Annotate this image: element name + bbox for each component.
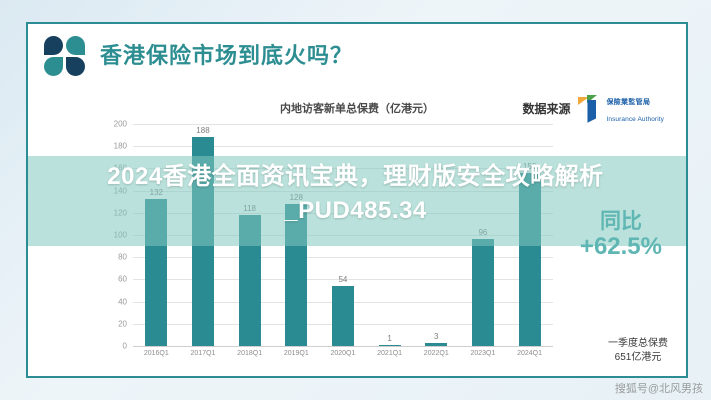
four-petal-logo-icon — [44, 36, 88, 76]
chart-x-tick-label: 2017Q1 — [180, 350, 227, 366]
quarter-total-label: 一季度总保费 — [608, 337, 668, 351]
chart-bar-value-label: 54 — [338, 275, 347, 284]
chart-y-tick-label: 20 — [118, 319, 127, 328]
chart-bar — [472, 239, 494, 346]
chart-y-tick-label: 200 — [114, 120, 127, 129]
page-title: 香港保险市场到底火吗？ — [100, 38, 353, 70]
chart-title: 内地访客新单总保费（亿港元） — [28, 100, 686, 116]
chart-x-tick-label: 2023Q1 — [460, 350, 507, 366]
chart-y-tick-label: 0 — [123, 342, 127, 351]
card-header: 香港保险市场到底火吗？ — [28, 24, 686, 86]
chart-bar-value-label: 188 — [196, 126, 209, 135]
overlay-headline-line2: _PUD485.34 — [0, 194, 711, 228]
chart-x-tick-label: 2018Q1 — [226, 350, 273, 366]
chart-x-tick-label: 2020Q1 — [320, 350, 367, 366]
chart-x-tick-label: 2021Q1 — [366, 350, 413, 366]
yoy-value: +62.5% — [580, 234, 662, 261]
insurance-authority-name-en: Insurance Authority — [606, 116, 664, 123]
logo-petal-bottom-right — [66, 57, 85, 76]
chart-bar-value-label: 3 — [434, 332, 438, 341]
watermark: 搜狐号@北风男孩 — [615, 380, 703, 396]
chart-y-tick-label: 180 — [114, 142, 127, 151]
chart-x-tick-label: 2022Q1 — [413, 350, 460, 366]
chart-x-axis-line — [133, 346, 553, 347]
chart-y-tick-label: 60 — [118, 275, 127, 284]
overlay-headline: 2024香港全面资讯宝典，理财版安全攻略解析 _PUD485.34 — [0, 160, 711, 228]
chart-y-tick-label: 80 — [118, 253, 127, 262]
logo-petal-top-right — [66, 36, 85, 55]
chart-x-axis-labels: 2016Q12017Q12018Q12019Q12020Q12021Q12022… — [133, 350, 553, 366]
quarter-total-value: 651亿港元 — [608, 351, 668, 365]
chart-x-tick-label: 2024Q1 — [506, 350, 553, 366]
logo-petal-top-left — [44, 36, 63, 55]
overlay-headline-line1: 2024香港全面资讯宝典，理财版安全攻略解析 — [0, 160, 711, 194]
chart-x-tick-label: 2016Q1 — [133, 350, 180, 366]
chart-x-tick-label: 2019Q1 — [273, 350, 320, 366]
chart-y-tick-label: 40 — [118, 297, 127, 306]
chart-bar — [332, 286, 354, 346]
chart-bar-value-label: 1 — [387, 334, 391, 343]
quarter-total-annotation: 一季度总保费 651亿港元 — [608, 337, 668, 364]
logo-petal-bottom-left — [44, 57, 63, 76]
